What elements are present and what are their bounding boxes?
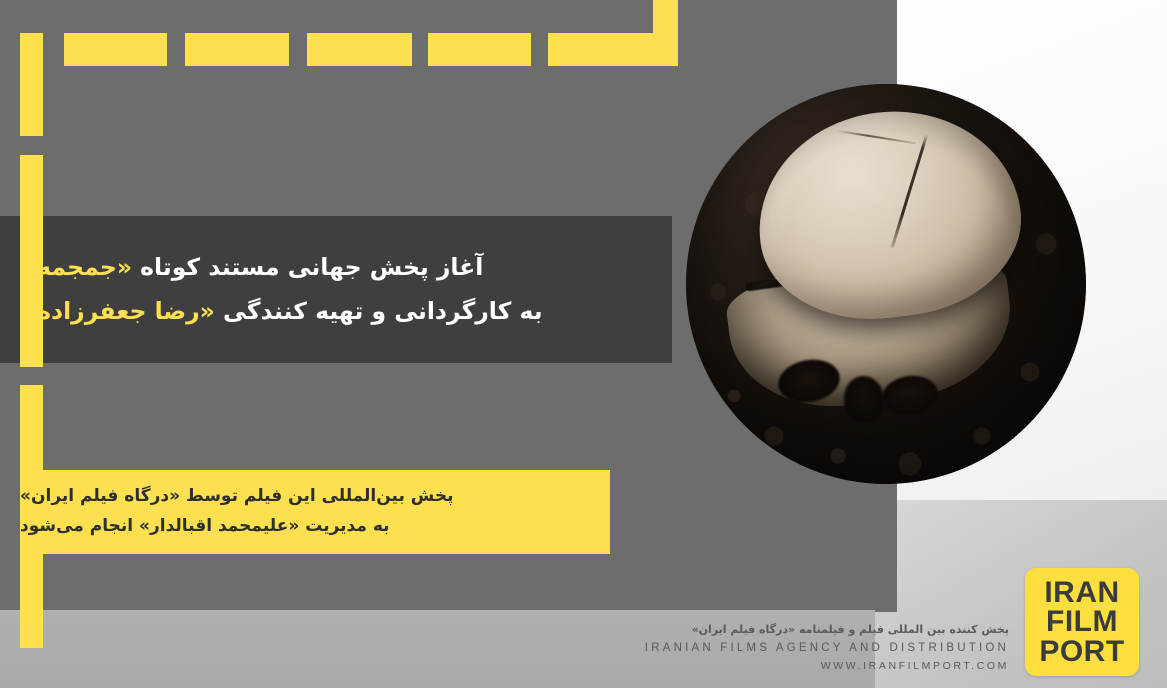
subtext-line-1: پخش بین‌المللی این فیلم توسط «درگاه فیلم… [20, 485, 610, 509]
footer-persian-line: پخش کننده بین المللی فیلم و فیلمنامه «در… [645, 621, 1009, 639]
footer-credits: پخش کننده بین المللی فیلم و فیلمنامه «در… [645, 621, 1009, 676]
decor-dash-top-4 [307, 33, 412, 66]
decor-dash-top-5 [428, 33, 531, 66]
decor-dash-top-2 [64, 33, 167, 66]
decor-corner-vertical [653, 0, 678, 66]
headline-line-1-text: آغاز پخش جهانی مستند کوتاه [132, 253, 483, 281]
headline-line-1-accent: «جمجمه» [22, 253, 132, 281]
headline-text-group: آغاز پخش جهانی مستند کوتاه «جمجمه» به کا… [0, 216, 660, 363]
logo-line-iran: IRAN [1044, 578, 1119, 607]
poster-canvas: آغاز پخش جهانی مستند کوتاه «جمجمه» به کا… [0, 0, 1167, 688]
decor-bar-left-1 [20, 33, 43, 136]
headline-line-2: به کارگردانی و تهیه کنندگی «رضا جعفرزاده… [0, 296, 660, 328]
logo-line-film: FILM [1046, 607, 1118, 636]
iran-film-port-logo[interactable]: IRAN FILM PORT [1025, 568, 1139, 676]
subtext-line-2: به مدیریت «علیمحمد اقبالدار» انجام می‌شو… [20, 515, 610, 539]
decor-dash-top-6 [548, 33, 653, 66]
decor-dash-top-3 [185, 33, 289, 66]
footer-english-line: IRANIAN FILMS AGENCY AND DISTRIBUTION [645, 639, 1009, 659]
skull-photo [686, 84, 1086, 484]
headline-line-1: آغاز پخش جهانی مستند کوتاه «جمجمه» [0, 252, 660, 284]
footer-website-line[interactable]: WWW.IRANFILMPORT.COM [645, 658, 1009, 676]
headline-line-2-accent: «رضا جعفرزاده» [22, 297, 215, 325]
headline-line-2-text: به کارگردانی و تهیه کنندگی [215, 297, 543, 325]
logo-line-port: PORT [1039, 637, 1124, 666]
subtext-group: پخش بین‌المللی این فیلم توسط «درگاه فیلم… [20, 470, 610, 554]
